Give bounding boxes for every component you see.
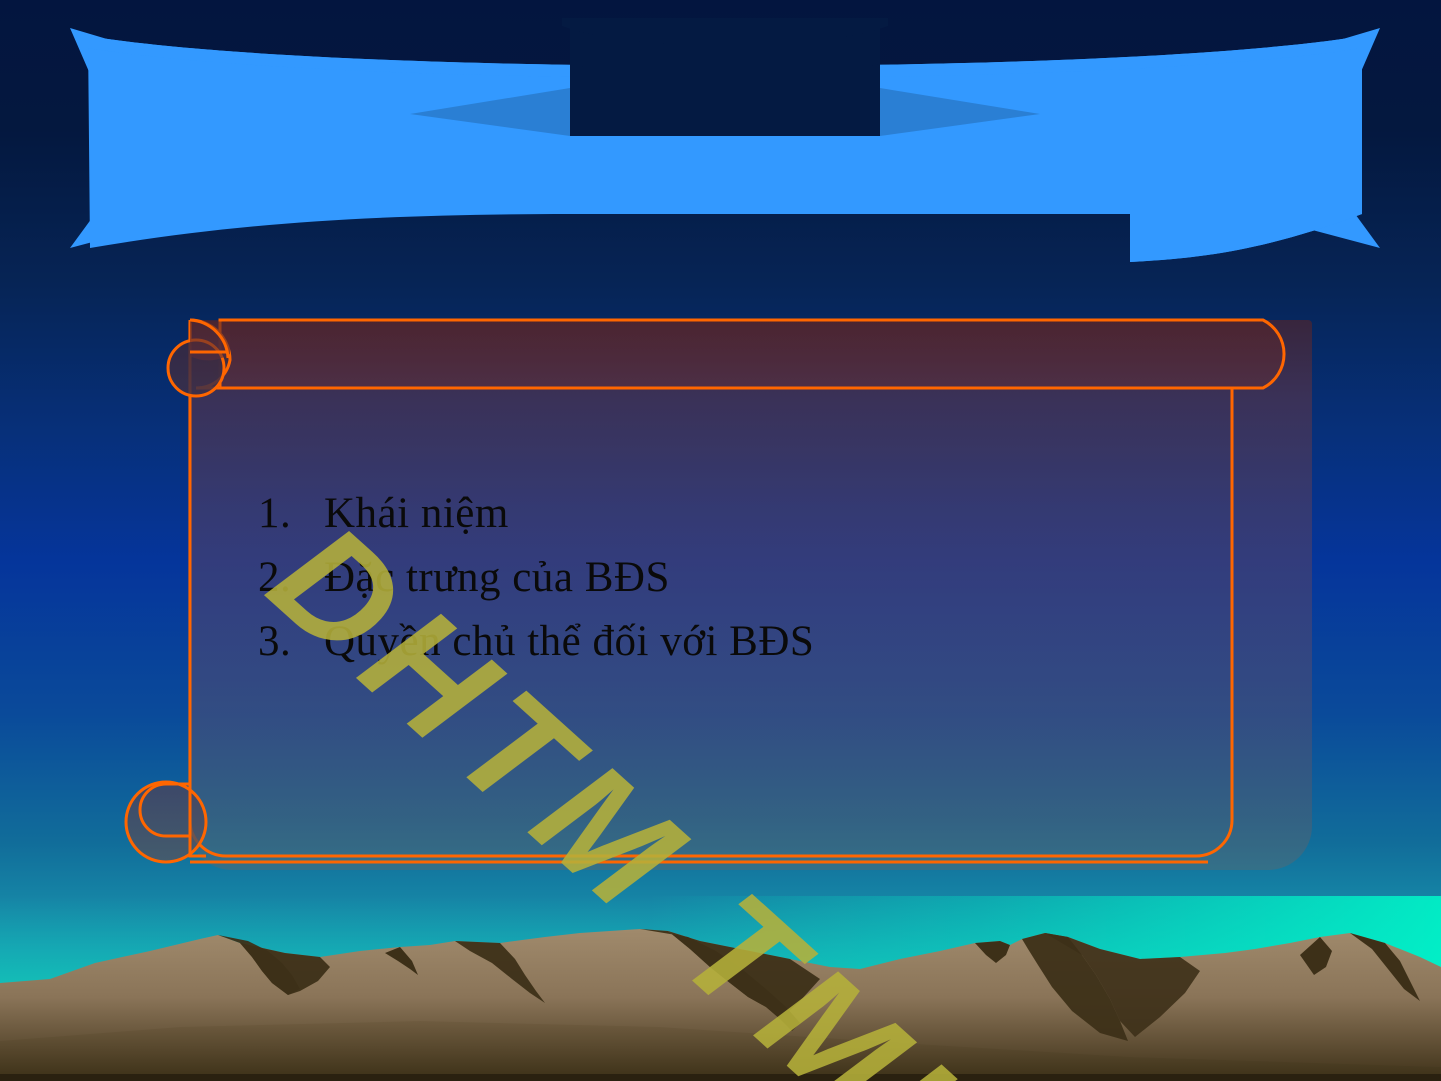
list-item: 2. Đặc trưng của BĐS bbox=[258, 546, 1078, 610]
list-item-number: 2. bbox=[258, 546, 324, 610]
panel-top-bar bbox=[220, 320, 1284, 388]
ribbon-banner-graphic bbox=[70, 18, 1380, 293]
list-item: 1. Khái niệm bbox=[258, 482, 1078, 546]
list-item: 3. Quyền chủ thể đối với BĐS bbox=[258, 610, 1078, 674]
mountain-range-graphic bbox=[0, 871, 1441, 1081]
presentation-slide: 1. Khái niệm 2. Đặc trưng của BĐS 3. Quy… bbox=[0, 0, 1441, 1081]
list-item-text: Quyền chủ thể đối với BĐS bbox=[324, 610, 1078, 674]
slide-body-list: 1. Khái niệm 2. Đặc trưng của BĐS 3. Quy… bbox=[258, 482, 1078, 674]
scroll-curl-bottom-left bbox=[126, 782, 206, 862]
list-item-text: Khái niệm bbox=[324, 482, 1078, 546]
list-item-number: 1. bbox=[258, 482, 324, 546]
list-item-number: 3. bbox=[258, 610, 324, 674]
list-item-text: Đặc trưng của BĐS bbox=[324, 546, 1078, 610]
